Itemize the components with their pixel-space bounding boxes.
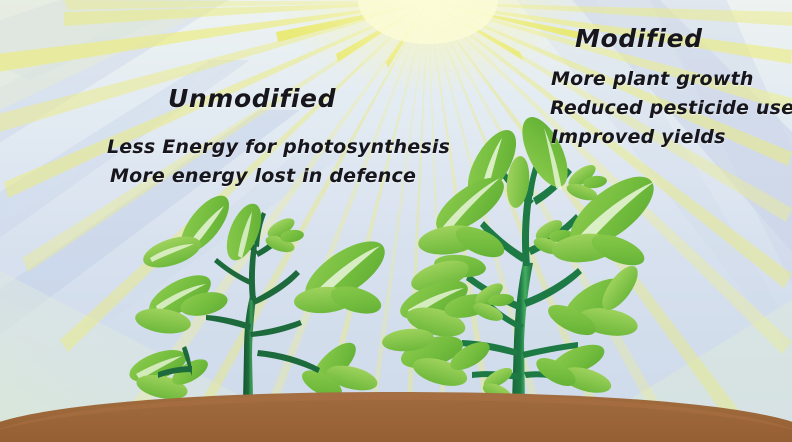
modified-line-1: More plant growth [551,68,754,90]
unmodified-line-2: More energy lost in defence [110,165,416,187]
illustration-canvas: Unmodified Less Energy for photosynthesi… [0,0,792,442]
scene-artwork [0,0,792,442]
unmodified-line-1: Less Energy for photosynthesis [107,136,450,158]
modified-line-3: Improved yields [551,126,726,148]
unmodified-heading: Unmodified [168,84,336,113]
modified-heading: Modified [575,24,703,53]
modified-line-2: Reduced pesticide use [550,97,792,119]
